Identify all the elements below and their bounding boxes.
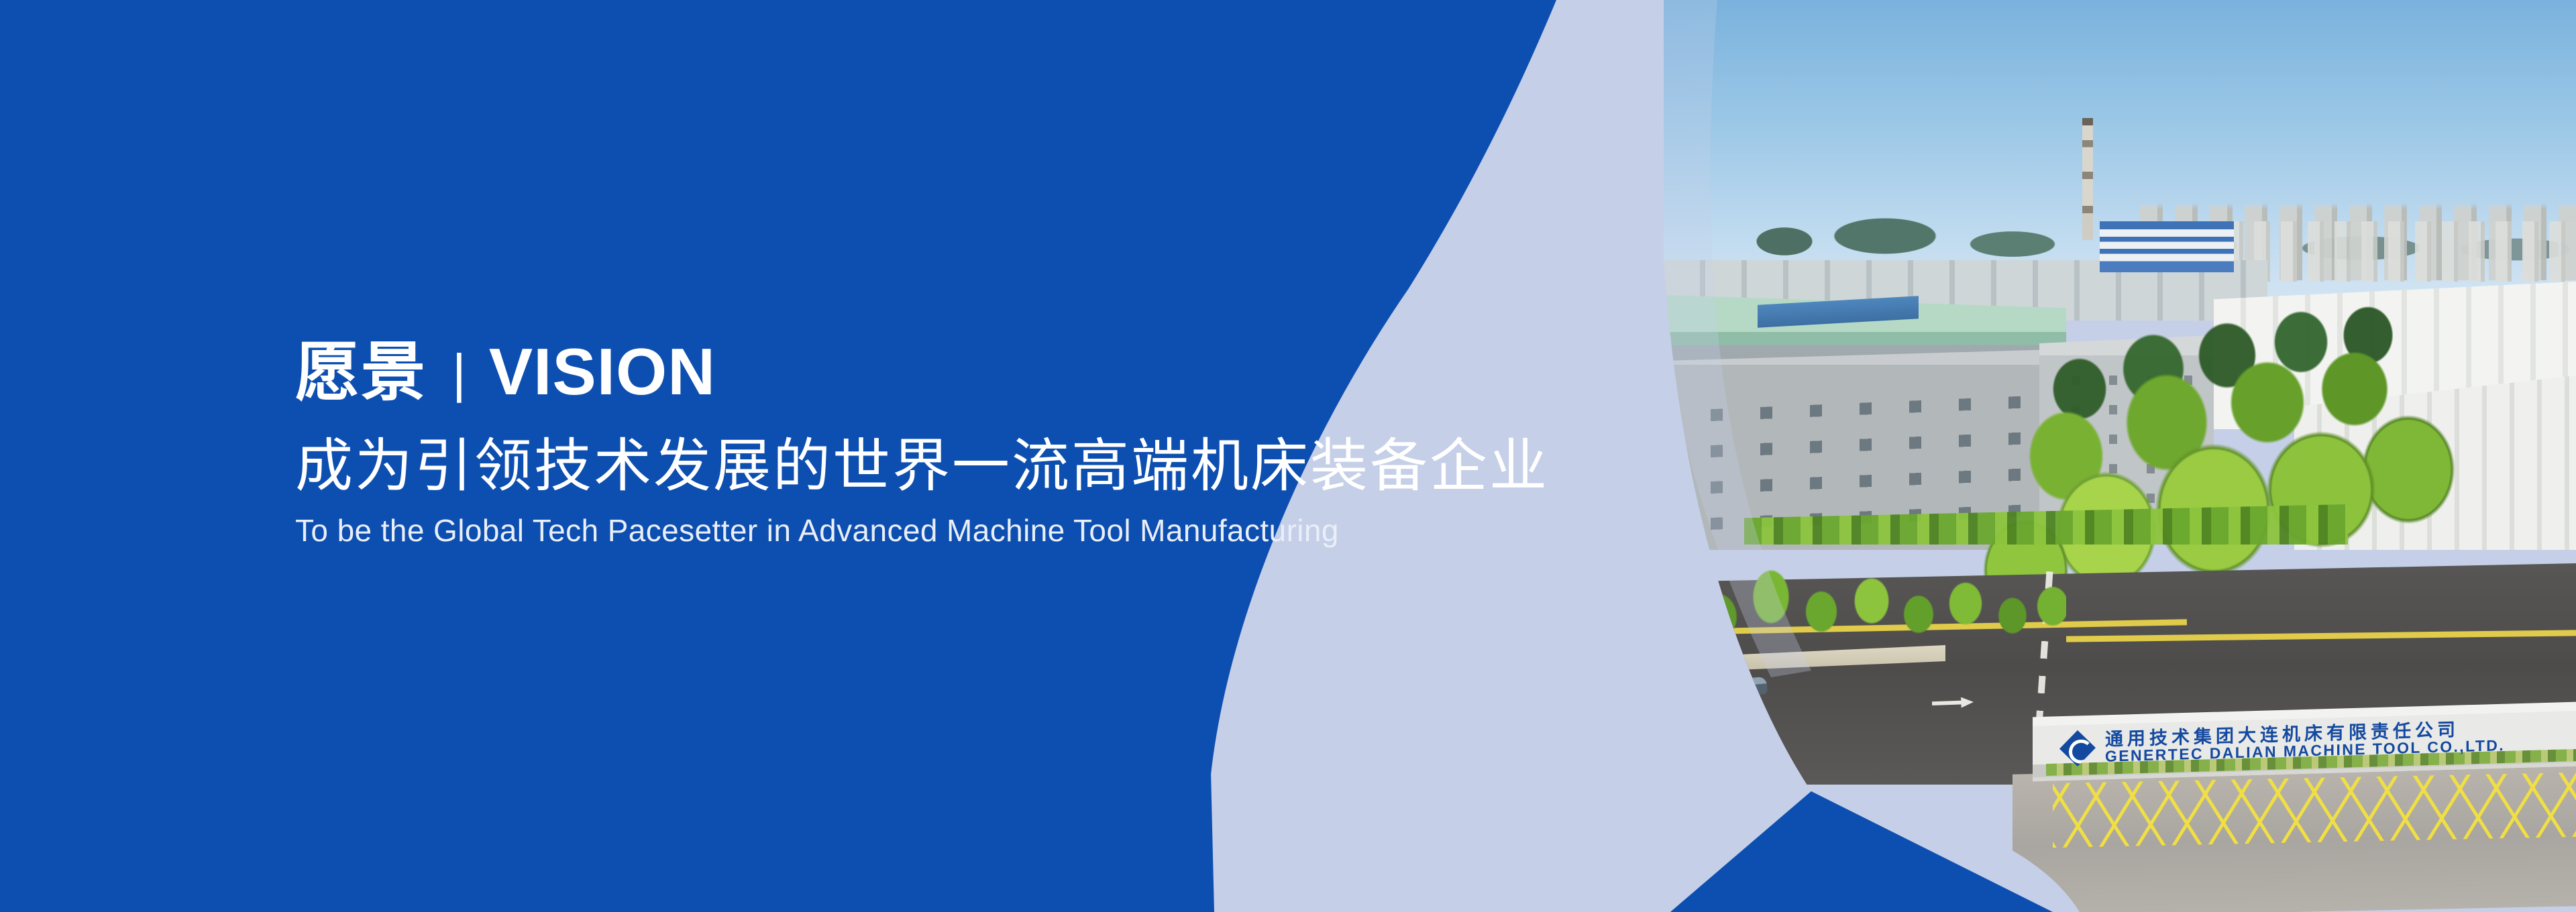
subheadline-english: To be the Global Tech Pacesetter in Adva… xyxy=(295,512,1549,549)
vision-text-block: 愿景 | VISION 成为引领技术发展的世界一流高端机床装备企业 To be … xyxy=(295,339,1549,549)
vision-eyebrow: 愿景 | VISION xyxy=(295,339,1549,418)
vision-banner: 通用技术集团大连机床有限责任公司 GENERTEC DALIAN MACHINE… xyxy=(0,0,2576,912)
company-sign-text: 通用技术集团大连机床有限责任公司 GENERTEC DALIAN MACHINE… xyxy=(2105,719,2505,765)
yellow-hatch-markings xyxy=(2053,773,2576,848)
genertec-logo-icon xyxy=(2059,730,2096,767)
eyebrow-separator: | xyxy=(452,347,466,400)
headline-chinese: 成为引领技术发展的世界一流高端机床装备企业 xyxy=(295,435,1549,498)
smokestack xyxy=(2082,118,2093,240)
eyebrow-label-en: VISION xyxy=(489,339,716,404)
office-building xyxy=(2100,221,2234,272)
eyebrow-label-cn: 愿景 xyxy=(295,341,427,405)
